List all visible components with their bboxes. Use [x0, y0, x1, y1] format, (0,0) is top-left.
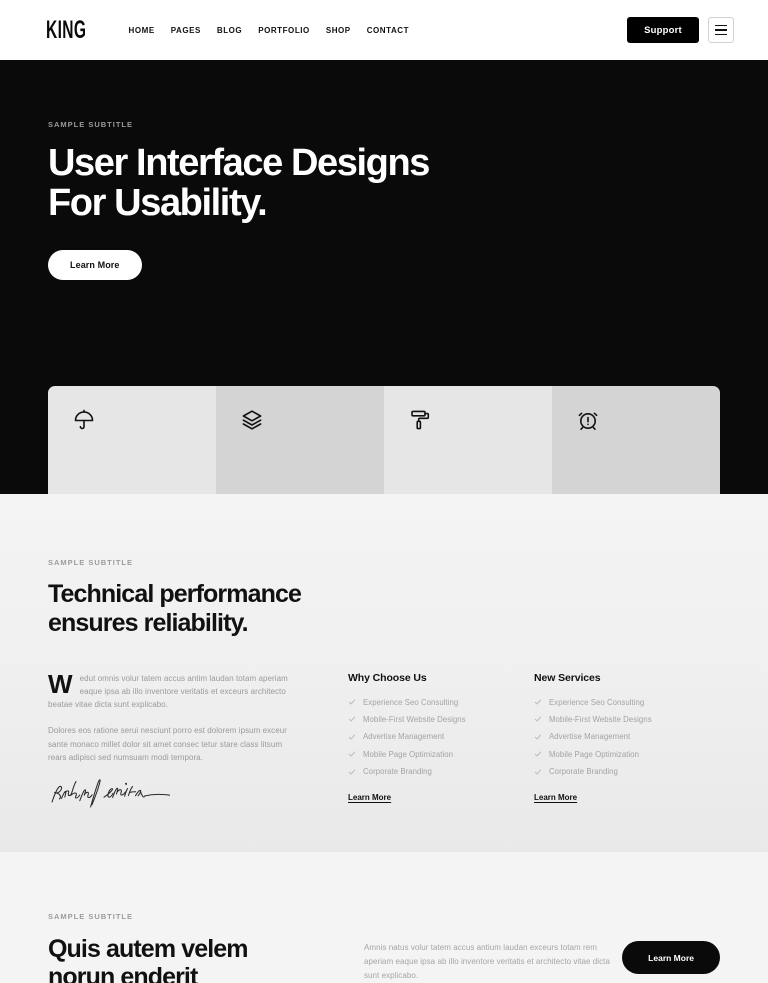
- list-item: Advertise Management: [348, 732, 534, 741]
- hero-kicker: SAMPLE SUBTITLE: [48, 60, 720, 129]
- section2-text-column: Wedut omnis volur tatem accus antim laud…: [48, 672, 292, 814]
- section2-title: Technical performance ensures reliabilit…: [48, 580, 720, 638]
- why-choose-us-learn-more-link[interactable]: Learn More: [348, 793, 391, 802]
- nav-item-portfolio[interactable]: PORTFOLIO: [258, 26, 310, 35]
- check-icon: [534, 715, 542, 723]
- list-item: Mobile Page Optimization: [534, 750, 720, 759]
- list-item: Corporate Branding: [534, 767, 720, 776]
- new-services-column: New Services Experience Seo Consulting M…: [534, 672, 720, 814]
- section3-learn-more-button[interactable]: Learn More: [622, 941, 720, 974]
- section2-kicker: SAMPLE SUBTITLE: [48, 494, 720, 567]
- main-navigation: HOME PAGES BLOG PORTFOLIO SHOP CONTACT: [129, 26, 410, 35]
- hero-title-line2: For Usability.: [48, 182, 266, 224]
- list-item-label: Mobile-First Website Designs: [363, 715, 466, 724]
- list-item-label: Experience Seo Consulting: [549, 698, 644, 707]
- hero-title-line1: User Interface Designs: [48, 142, 429, 184]
- section2-paragraph-1-text: edut omnis volur tatem accus antim lauda…: [48, 674, 288, 710]
- nav-item-contact[interactable]: CONTACT: [367, 26, 409, 35]
- nav-item-home[interactable]: HOME: [129, 26, 155, 35]
- cta-section: SAMPLE SUBTITLE Quis autem velem norun e…: [0, 852, 768, 983]
- section2-lists: Why Choose Us Experience Seo Consulting …: [348, 672, 720, 814]
- why-choose-us-heading: Why Choose Us: [348, 672, 534, 684]
- hamburger-bar: [715, 29, 727, 30]
- new-services-list: Experience Seo Consulting Mobile-First W…: [534, 698, 720, 777]
- layers-icon: [240, 408, 360, 446]
- list-item: Experience Seo Consulting: [534, 698, 720, 707]
- check-icon: [348, 750, 356, 758]
- hamburger-bar: [715, 25, 727, 26]
- hero-section: SAMPLE SUBTITLE User Interface Designs F…: [0, 60, 768, 494]
- list-item: Advertise Management: [534, 732, 720, 741]
- list-item: Mobile-First Website Designs: [348, 715, 534, 724]
- section3-paragraph: Amnis natus volur tatem accus antium lau…: [364, 941, 616, 982]
- nav-item-pages[interactable]: PAGES: [171, 26, 201, 35]
- list-item-label: Mobile-First Website Designs: [549, 715, 652, 724]
- list-item-label: Experience Seo Consulting: [363, 698, 458, 707]
- section2-title-line1: Technical performance: [48, 580, 301, 608]
- section3-title-line1: Quis autem velem: [48, 935, 248, 963]
- new-services-learn-more-link[interactable]: Learn More: [534, 793, 577, 802]
- header-actions: Support: [627, 17, 734, 43]
- paint-roller-icon: [408, 408, 528, 446]
- check-icon: [534, 750, 542, 758]
- nav-item-blog[interactable]: BLOG: [217, 26, 242, 35]
- section2-title-line2: ensures reliability.: [48, 609, 248, 637]
- technical-performance-section: SAMPLE SUBTITLE Technical performance en…: [0, 494, 768, 852]
- check-icon: [534, 698, 542, 706]
- check-icon: [534, 733, 542, 741]
- section2-paragraph-2: Dolores eos ratione serui nesciunt porro…: [48, 724, 292, 764]
- support-button[interactable]: Support: [627, 17, 699, 43]
- nav-item-shop[interactable]: SHOP: [326, 26, 351, 35]
- why-choose-us-column: Why Choose Us Experience Seo Consulting …: [348, 672, 534, 814]
- why-choose-us-list: Experience Seo Consulting Mobile-First W…: [348, 698, 534, 777]
- section3-title: Quis autem velem norun enderit: [48, 935, 316, 983]
- list-item-label: Corporate Branding: [363, 767, 432, 776]
- site-header: KING HOME PAGES BLOG PORTFOLIO SHOP CONT…: [0, 0, 768, 60]
- dropcap-letter: W: [48, 673, 73, 695]
- list-item-label: Advertise Management: [363, 732, 444, 741]
- umbrella-icon: [72, 408, 192, 446]
- signature-image: [48, 778, 292, 813]
- check-icon: [348, 768, 356, 776]
- section2-body: Wedut omnis volur tatem accus antim laud…: [48, 672, 720, 814]
- hamburger-icon[interactable]: [708, 17, 734, 43]
- hero-learn-more-button[interactable]: Learn More: [48, 250, 142, 280]
- section3-kicker: SAMPLE SUBTITLE: [48, 852, 720, 921]
- list-item: Mobile-First Website Designs: [534, 715, 720, 724]
- list-item: Mobile Page Optimization: [348, 750, 534, 759]
- new-services-heading: New Services: [534, 672, 720, 684]
- section3-title-line2: norun enderit: [48, 963, 197, 983]
- alarm-clock-icon: [576, 408, 696, 446]
- section3-row: Quis autem velem norun enderit Amnis nat…: [48, 935, 720, 983]
- list-item-label: Mobile Page Optimization: [363, 750, 453, 759]
- list-item-label: Advertise Management: [549, 732, 630, 741]
- section2-paragraph-1: Wedut omnis volur tatem accus antim laud…: [48, 672, 292, 712]
- list-item-label: Mobile Page Optimization: [549, 750, 639, 759]
- check-icon: [348, 698, 356, 706]
- check-icon: [348, 715, 356, 723]
- list-item: Experience Seo Consulting: [348, 698, 534, 707]
- check-icon: [534, 768, 542, 776]
- list-item: Corporate Branding: [348, 767, 534, 776]
- site-logo[interactable]: KING: [46, 18, 86, 43]
- check-icon: [348, 733, 356, 741]
- list-item-label: Corporate Branding: [549, 767, 618, 776]
- hero-title: User Interface Designs For Usability.: [48, 143, 720, 224]
- hamburger-bar: [715, 34, 727, 35]
